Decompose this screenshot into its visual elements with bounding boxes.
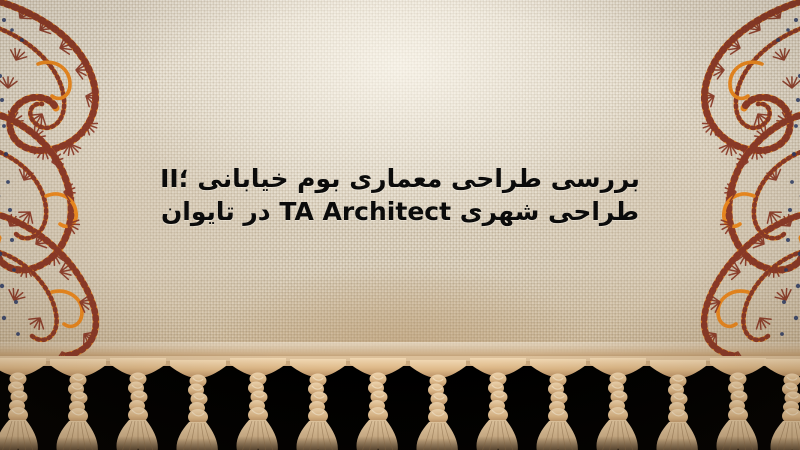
- slide-canvas: بررسی طراحی معماری بوم خیابانی ؛II طراحی…: [0, 0, 800, 450]
- tassel-fringe: [0, 356, 800, 450]
- paisley-embroidery-corner-left-icon: [0, 0, 220, 368]
- paisley-embroidery-corner-right-icon: [580, 0, 800, 368]
